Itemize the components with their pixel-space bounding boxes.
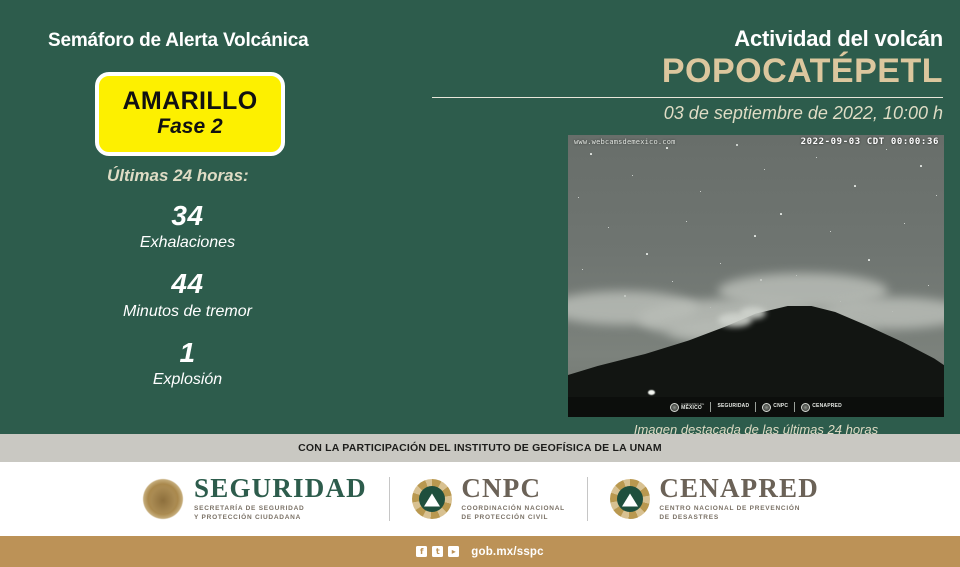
last-24-hours-label: Últimas 24 horas: — [107, 166, 249, 186]
stat-label: Explosión — [0, 370, 375, 389]
alert-level-badge: AMARILLO Fase 2 — [95, 72, 285, 156]
webcam-photo: www.webcamsdemexico.com 2022-09-03 CDT 0… — [568, 135, 944, 417]
activity-kicker: Actividad del volcán — [734, 26, 943, 52]
youtube-icon[interactable]: ▸ — [448, 546, 459, 557]
stat-value: 34 — [0, 200, 375, 232]
unam-credit-text: CON LA PARTICIPACIÓN DEL INSTITUTO DE GE… — [298, 442, 662, 454]
cenapred-seal-icon — [801, 403, 810, 412]
gobierno-mexico-eagle-icon — [141, 477, 185, 521]
stat-value: 44 — [0, 268, 375, 300]
volcano-activity-infographic: Semáforo de Alerta Volcánica AMARILLO Fa… — [0, 0, 960, 567]
overlay-divider — [794, 402, 795, 412]
webcam-figure: www.webcamsdemexico.com 2022-09-03 CDT 0… — [568, 135, 944, 437]
overlay-logo-label: CENAPRED — [812, 404, 842, 410]
page-title: POPOCATÉPETL — [662, 54, 943, 88]
brand-subtitle: SECRETARÍA DE SEGURIDADY PROTECCIÓN CIUD… — [194, 505, 367, 523]
cnpc-civil-protection-icon — [412, 479, 452, 519]
statistics-list: 34 Exhalaciones 44 Minutos de tremor 1 E… — [0, 200, 375, 405]
institutional-logo-band: SEGURIDAD SECRETARÍA DE SEGURIDADY PROTE… — [0, 462, 960, 536]
twitter-icon[interactable]: t — [432, 546, 443, 557]
brand-subtitle: COORDINACIÓN NACIONALDE PROTECCIÓN CIVIL — [461, 505, 565, 523]
overlay-logo-label: MÉXICO — [681, 405, 702, 411]
logo-seguridad: SEGURIDAD SECRETARÍA DE SEGURIDADY PROTE… — [119, 475, 389, 523]
report-datetime: 03 de septiembre de 2022, 10:00 h — [664, 103, 943, 124]
overlay-logo-seguridad: SEGURIDAD — [717, 404, 749, 410]
webcam-logo-overlay-bar: GOBIERNO DE MÉXICO SEGURIDAD CNPC CE — [568, 397, 944, 417]
brand-name: CNPC — [461, 475, 565, 502]
stat-item: 1 Explosión — [0, 337, 375, 389]
stat-label: Minutos de tremor — [0, 302, 375, 321]
volcano-panel: Actividad del volcán POPOCATÉPETL 03 de … — [430, 0, 960, 434]
semaforo-heading: Semáforo de Alerta Volcánica — [48, 30, 309, 52]
cnpc-seal-icon — [762, 403, 771, 412]
webcam-url-overlay: www.webcamsdemexico.com — [574, 138, 676, 146]
webcam-timestamp-overlay: 2022-09-03 CDT 00:00:36 — [801, 137, 939, 147]
overlay-divider — [755, 402, 756, 412]
stat-label: Exhalaciones — [0, 233, 375, 252]
stat-value: 1 — [0, 337, 375, 369]
overlay-logo-gobierno: GOBIERNO DE MÉXICO — [670, 403, 704, 412]
cenapred-civil-protection-icon — [610, 479, 650, 519]
gob-mx-url[interactable]: gob.mx/sspc — [471, 546, 544, 558]
overlay-logo-cnpc: CNPC — [762, 403, 788, 412]
brand-name: CENAPRED — [659, 475, 819, 502]
brand-subtitle: CENTRO NACIONAL DE PREVENCIÓNDE DESASTRE… — [659, 505, 819, 523]
header-divider — [432, 97, 943, 98]
logo-cenapred: CENAPRED CENTRO NACIONAL DE PREVENCIÓNDE… — [588, 475, 841, 523]
overlay-logo-label: CNPC — [773, 404, 788, 410]
brand-name: SEGURIDAD — [194, 475, 367, 502]
stat-item: 44 Minutos de tremor — [0, 268, 375, 320]
logo-cnpc: CNPC COORDINACIÓN NACIONALDE PROTECCIÓN … — [390, 475, 587, 523]
alert-phase-text: Fase 2 — [157, 115, 222, 138]
eagle-seal-icon — [670, 403, 679, 412]
summit-glow-right — [740, 307, 766, 319]
facebook-icon[interactable]: f — [416, 546, 427, 557]
stat-item: 34 Exhalaciones — [0, 200, 375, 252]
foreground-light — [648, 390, 655, 395]
social-band: f t ▸ gob.mx/sspc — [0, 536, 960, 567]
overlay-divider — [710, 402, 711, 412]
alert-panel: Semáforo de Alerta Volcánica AMARILLO Fa… — [0, 0, 480, 434]
alert-level-text: AMARILLO — [122, 89, 257, 114]
unam-credit-band: CON LA PARTICIPACIÓN DEL INSTITUTO DE GE… — [0, 434, 960, 462]
overlay-logo-cenapred: CENAPRED — [801, 403, 842, 412]
